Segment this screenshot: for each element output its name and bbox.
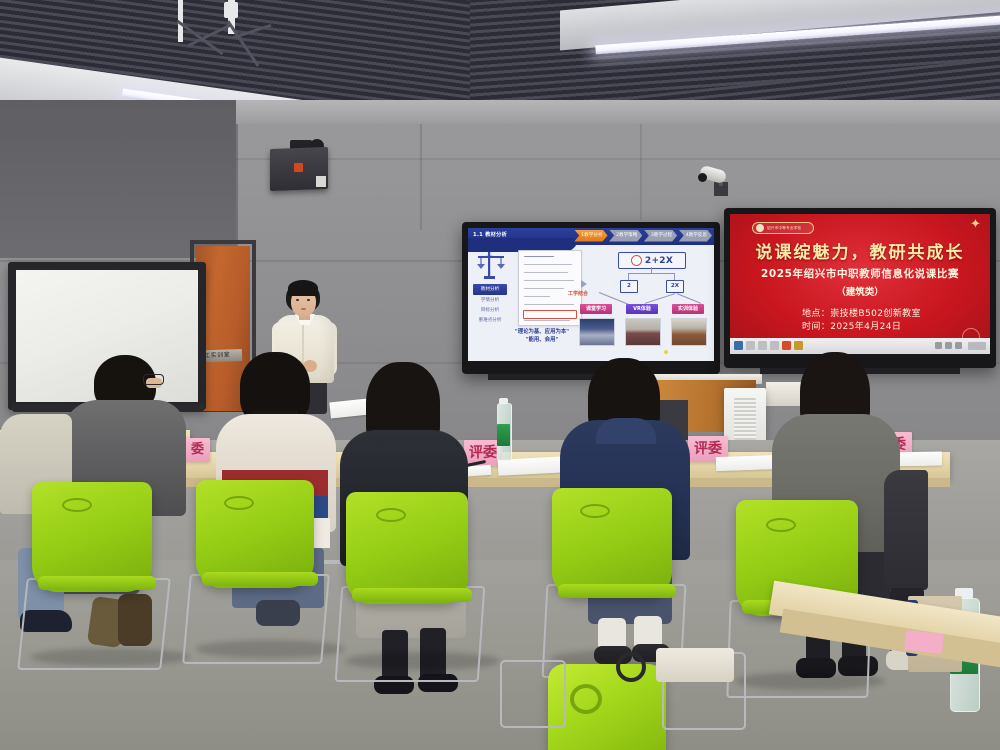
slide-nav-item-2[interactable]: 目标分析 bbox=[473, 306, 507, 316]
diagram-node-2x: 2X bbox=[666, 280, 684, 293]
slide-doc-tag: 工学结合 bbox=[568, 290, 588, 297]
poster-location-value: 崇技楼B502创新教室 bbox=[830, 309, 921, 319]
poster-location-row: 地点：崇技楼B502创新教室 bbox=[802, 308, 921, 321]
right-display-screen[interactable]: ✦ 绍兴市中等专业学校 说课绽魅力，教研共成长 2025年绍兴市中职教师信息化说… bbox=[730, 214, 990, 354]
slide-step-1[interactable]: 1教学分析 bbox=[574, 230, 607, 242]
diagram-leaf-2: VR体验 bbox=[626, 304, 658, 314]
slide-section-title: 1.1 教材分析 bbox=[473, 231, 507, 238]
poster-headline: 说课绽魅力，教研共成长 bbox=[730, 238, 990, 263]
clock-icon bbox=[631, 255, 642, 266]
chair-6-handle bbox=[570, 684, 602, 714]
p1-glasses-icon bbox=[143, 374, 164, 385]
taskbar-icon-1[interactable] bbox=[746, 341, 755, 350]
classroom-scene: 钳工实训室 1.1 教材分析 1教学分析 2教学策略 3教学过程 4教学反思 bbox=[0, 0, 1000, 750]
slide-step-2[interactable]: 2教学策略 bbox=[609, 230, 642, 242]
slide-motto-1: "理论为基、应用为本" bbox=[492, 328, 592, 336]
taskbar-icon-4[interactable] bbox=[782, 341, 791, 350]
poster-time-label: 时间： bbox=[802, 322, 830, 332]
left-display-screen[interactable]: 1.1 教材分析 1教学分析 2教学策略 3教学过程 4教学反思 教 bbox=[468, 228, 714, 361]
diagram-leaf-3: 实训体验 bbox=[672, 304, 704, 314]
slide-nav-active[interactable]: 教材分析 bbox=[473, 284, 507, 295]
taskbar-tray-icon-3[interactable] bbox=[955, 342, 962, 349]
slide-doc-card bbox=[518, 250, 582, 326]
windows-taskbar[interactable] bbox=[730, 338, 990, 354]
camera-lens-icon bbox=[698, 173, 707, 182]
poster-meta: 地点：崇技楼B502创新教室 时间：2025年4月24日 bbox=[802, 308, 921, 334]
crane-icon bbox=[476, 252, 508, 280]
slide-motto-2: "能用、会用" bbox=[492, 336, 592, 344]
speaker-brand-logo-icon bbox=[294, 163, 303, 172]
slide-step-nav: 1教学分析 2教学策略 3教学过程 4教学反思 bbox=[574, 230, 712, 242]
poster-subtitle: 2025年绍兴市中职教师信息化说课比赛 bbox=[730, 266, 990, 281]
diagram-root-box: 2+2X bbox=[618, 252, 686, 269]
paper-sheet-3 bbox=[716, 455, 780, 471]
taskbar-tray-icon-2[interactable] bbox=[945, 342, 952, 349]
presenter-eye-right bbox=[307, 299, 310, 301]
speaker-tag bbox=[316, 176, 326, 187]
taskbar-icon-2[interactable] bbox=[758, 341, 767, 350]
diagram-leaf-1: 课堂学习 bbox=[580, 304, 612, 314]
chair-1-handle bbox=[62, 498, 92, 512]
slide-nav-item-1[interactable]: 学情分析 bbox=[473, 296, 507, 306]
chair-4-seat bbox=[558, 584, 676, 598]
pink-note bbox=[904, 630, 944, 654]
presenter-mouth bbox=[301, 308, 306, 310]
foreground-bag bbox=[656, 648, 734, 682]
ceiling-hanger-box bbox=[224, 2, 238, 18]
chair-3-seat bbox=[352, 588, 472, 602]
poster-category: （建筑类） bbox=[730, 284, 990, 298]
taskbar-icon-3[interactable] bbox=[770, 341, 779, 350]
poster-star-icon: ✦ bbox=[970, 218, 984, 232]
p6-body bbox=[884, 470, 928, 590]
slide-mottos: "理论为基、应用为本" "能用、会用" bbox=[492, 328, 592, 344]
chair-3-handle bbox=[376, 508, 406, 522]
school-logo-badge: 绍兴市中等专业学校 bbox=[752, 222, 814, 234]
poster-location-label: 地点： bbox=[802, 309, 830, 319]
slide-nav-item-3[interactable]: 重难点分析 bbox=[473, 316, 507, 326]
slide-step-4[interactable]: 4教学反思 bbox=[679, 230, 712, 242]
wall-seam-v1 bbox=[236, 100, 238, 260]
floor-speaker-grill bbox=[734, 398, 756, 440]
chair-4-back bbox=[552, 488, 672, 598]
slide-photo-vr bbox=[625, 318, 661, 346]
presenter-shirt-placket bbox=[302, 320, 304, 366]
taskbar-icon-5[interactable] bbox=[794, 341, 803, 350]
diagram-root-label: 2+2X bbox=[645, 256, 673, 266]
p4-hood bbox=[596, 418, 656, 444]
diagram-node-2: 2 bbox=[620, 280, 638, 293]
wall-left-dark-panel bbox=[0, 100, 236, 258]
taskbar-start-icon[interactable] bbox=[734, 341, 743, 350]
slide-step-3[interactable]: 3教学过程 bbox=[644, 230, 677, 242]
presenter-eye-left bbox=[296, 299, 299, 301]
slide-arrow-icon bbox=[581, 280, 587, 288]
poster-time-row: 时间：2025年4月24日 bbox=[802, 321, 921, 334]
school-logo-label: 绍兴市中等专业学校 bbox=[767, 226, 801, 231]
chair-2-seat bbox=[202, 572, 318, 586]
chair-5-handle bbox=[766, 518, 796, 532]
chair-4-handle bbox=[580, 504, 610, 518]
presenter-hair-top bbox=[288, 280, 318, 296]
chair-1-seat bbox=[38, 576, 156, 590]
chair-2-handle bbox=[224, 496, 254, 510]
slide-cursor-dot bbox=[664, 350, 668, 354]
school-logo-icon bbox=[756, 224, 764, 232]
slide-photo-classroom bbox=[579, 318, 615, 346]
slide-photo-practice bbox=[671, 318, 707, 346]
chair-caster-icon bbox=[616, 652, 646, 682]
presentation-slide: 1.1 教材分析 1教学分析 2教学策略 3教学过程 4教学反思 教 bbox=[468, 228, 714, 361]
chair-6-sled-left bbox=[500, 660, 566, 728]
taskbar-tray-icon-1[interactable] bbox=[935, 342, 942, 349]
taskbar-clock[interactable] bbox=[968, 342, 986, 350]
poster-time-value: 2025年4月24日 bbox=[830, 322, 901, 332]
